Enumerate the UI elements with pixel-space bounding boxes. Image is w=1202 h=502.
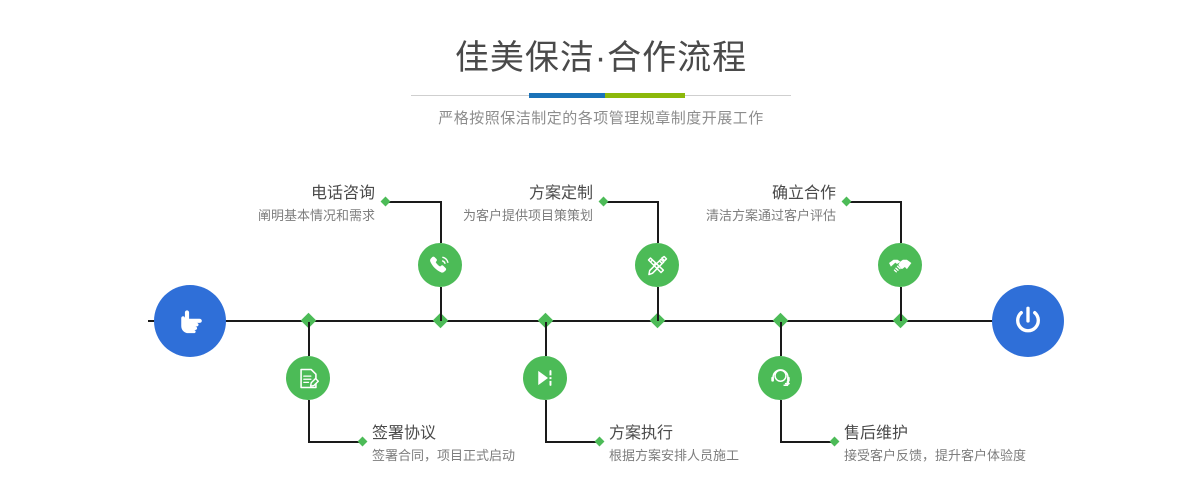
step-title-3: 方案定制 [340, 184, 593, 204]
divider-segment-green [605, 93, 685, 98]
document-edit-icon [296, 366, 321, 391]
play-execute-icon [533, 366, 557, 390]
connector-step3-lower [657, 287, 659, 321]
timeline-axis [148, 320, 1054, 322]
headset-support-icon [768, 366, 793, 391]
connector-step1-lower [440, 287, 442, 321]
flow-start-node[interactable] [154, 285, 226, 357]
step-desc-3: 为客户提供项目策策划 [340, 206, 593, 226]
connector-step6-lower [780, 400, 782, 442]
connector-step4-lower [545, 400, 547, 442]
connector-step5-lower [900, 287, 902, 321]
flow-end-node[interactable] [992, 285, 1064, 357]
pencil-ruler-icon [645, 253, 670, 278]
connector-step2-horizontal [308, 441, 362, 443]
process-flow-diagram: 电话咨询 阐明基本情况和需求 签署协议 签署合同，项目正式启动 [0, 150, 1202, 502]
page-header: 佳美保洁·合作流程 严格按照保洁制定的各项管理规章制度开展工作 [0, 0, 1202, 129]
page-subtitle: 严格按照保洁制定的各项管理规章制度开展工作 [0, 109, 1202, 129]
step-label-6: 售后维护 接受客户反馈，提升客户体验度 [844, 424, 1164, 466]
power-icon [1009, 302, 1047, 340]
connector-step6-upper [780, 322, 782, 356]
step-desc-5: 清洁方案通过客户评估 [586, 206, 836, 226]
connector-step4-horizontal [545, 441, 599, 443]
step-label-3: 方案定制 为客户提供项目策策划 [340, 184, 593, 226]
step-title-5: 确立合作 [586, 184, 836, 204]
step-desc-1: 阐明基本情况和需求 [110, 206, 375, 226]
page-title: 佳美保洁·合作流程 [0, 36, 1202, 80]
pointing-hand-icon [170, 301, 210, 341]
step-title-1: 电话咨询 [110, 184, 375, 204]
step-label-1: 电话咨询 阐明基本情况和需求 [110, 184, 375, 226]
label-bullet-5 [842, 197, 852, 207]
step-icon-4[interactable] [523, 356, 567, 400]
step-label-5: 确立合作 清洁方案通过客户评估 [586, 184, 836, 226]
title-divider [411, 93, 791, 98]
connector-step4-upper [545, 322, 547, 356]
step-icon-6[interactable] [758, 356, 802, 400]
step-icon-1[interactable] [418, 243, 462, 287]
step-desc-6: 接受客户反馈，提升客户体验度 [844, 446, 1164, 466]
handshake-icon [887, 252, 913, 278]
divider-segment-blue [529, 93, 605, 98]
phone-call-icon [427, 252, 453, 278]
connector-step2-lower [308, 400, 310, 442]
step-icon-2[interactable] [286, 356, 330, 400]
label-bullet-2 [358, 437, 368, 447]
connector-step5-upper [900, 201, 902, 243]
step-title-6: 售后维护 [844, 424, 1164, 444]
step-icon-3[interactable] [635, 243, 679, 287]
connector-step5-horizontal [846, 201, 901, 203]
step-icon-5[interactable] [878, 243, 922, 287]
connector-step6-horizontal [780, 441, 834, 443]
connector-step2-upper [308, 322, 310, 356]
